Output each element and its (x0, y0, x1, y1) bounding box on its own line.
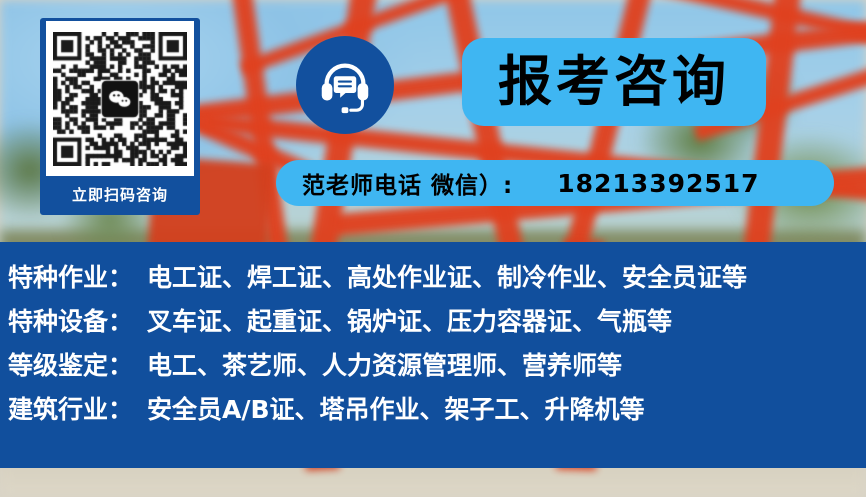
certificate-list-panel: 特种作业： 电工证、焊工证、高处作业证、制冷作业、安全员证等 特种设备： 叉车证… (0, 242, 866, 468)
qr-card-caption: 立即扫码咨询 (72, 176, 168, 212)
info-row-items: 电工证、焊工证、高处作业证、制冷作业、安全员证等 (147, 258, 747, 294)
contact-phone-pill[interactable]: 范老师电话 微信）: 18213392517 (276, 160, 834, 206)
info-row: 等级鉴定： 电工、茶艺师、人力资源管理师、营养师等 (0, 346, 866, 390)
info-row-category: 特种设备： (8, 302, 133, 338)
info-row-category: 等级鉴定： (8, 346, 133, 382)
qr-code-box[interactable] (46, 21, 194, 176)
contact-phone-number[interactable]: 18213392517 (557, 169, 759, 198)
promo-poster: 立即扫码咨询 报考咨询 范老师电话 微信）: 18213392517 (0, 0, 866, 497)
info-row-items: 安全员A/B证、塔吊作业、架子工、升降机等 (147, 390, 645, 426)
info-row: 建筑行业： 安全员A/B证、塔吊作业、架子工、升降机等 (0, 390, 866, 434)
headset-support-icon (296, 36, 394, 134)
contact-label: 范老师电话 微信）: (302, 166, 513, 200)
info-row: 特种作业： 电工证、焊工证、高处作业证、制冷作业、安全员证等 (0, 258, 866, 302)
info-row: 特种设备： 叉车证、起重证、锅炉证、压力容器证、气瓶等 (0, 302, 866, 346)
info-row-items: 电工、茶艺师、人力资源管理师、营养师等 (147, 346, 622, 382)
consult-title-text: 报考咨询 (498, 55, 730, 109)
qr-code-card[interactable]: 立即扫码咨询 (40, 18, 200, 215)
consult-title-pill[interactable]: 报考咨询 (462, 38, 766, 126)
qr-code-canvas[interactable] (53, 32, 187, 166)
qr-code-image[interactable] (53, 32, 187, 166)
info-row-items: 叉车证、起重证、锅炉证、压力容器证、气瓶等 (147, 302, 672, 338)
info-row-category: 建筑行业： (8, 390, 133, 426)
info-row-category: 特种作业： (8, 258, 133, 294)
